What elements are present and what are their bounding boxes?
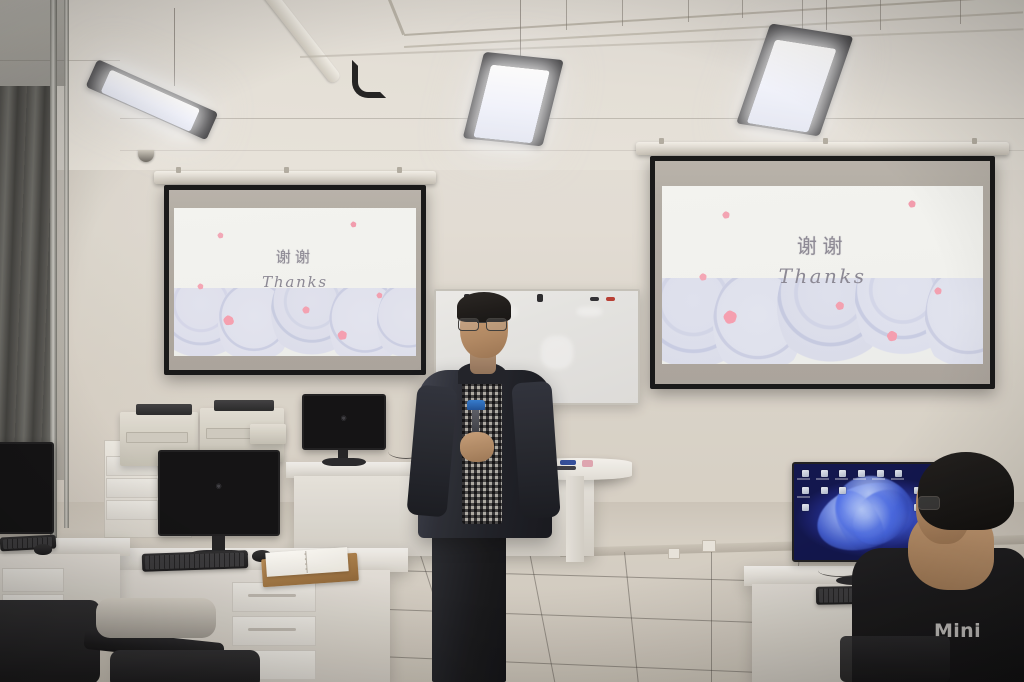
left-desk-drawer[interactable] — [2, 568, 64, 592]
presenter-legs — [432, 522, 506, 682]
drawer-handle[interactable] — [248, 628, 296, 631]
desktop-icon[interactable] — [821, 470, 828, 477]
desktop-icon[interactable] — [839, 470, 846, 477]
desktop-icon[interactable] — [802, 470, 809, 477]
pipe-hanger — [742, 0, 743, 18]
microphone-head — [467, 400, 485, 410]
monitor-brand-logo: ◉ — [341, 414, 348, 422]
desktop-icon[interactable] — [802, 487, 809, 494]
chair[interactable] — [96, 598, 216, 638]
wall-outlet[interactable] — [702, 540, 716, 552]
printer-side-unit — [250, 424, 286, 444]
blossom-icon — [215, 230, 224, 239]
presenter-arm-right — [511, 381, 560, 519]
lamp-wire — [174, 8, 175, 86]
desktop-icon-label — [797, 478, 810, 480]
blossom-icon — [220, 311, 236, 327]
monitor-base — [322, 458, 366, 466]
pipe-hanger — [960, 0, 961, 24]
blossom-icon — [300, 304, 311, 315]
slide-right: 谢谢 Thanks — [662, 186, 984, 364]
attendee-glasses — [918, 496, 940, 510]
monitor-brand-logo: ◉ — [216, 482, 223, 490]
slide-title: 谢谢 — [662, 230, 984, 259]
printer-lid — [136, 404, 192, 415]
glasses-lens-left — [458, 318, 479, 331]
monitor-screen — [0, 442, 54, 534]
blossom-icon — [832, 298, 846, 312]
drawer-handle[interactable] — [248, 594, 296, 597]
whiteboard-glare — [577, 307, 601, 316]
floor-tile-line — [711, 552, 712, 682]
cabinet-drawer[interactable] — [106, 478, 158, 498]
chair[interactable] — [110, 650, 260, 682]
desktop-icon[interactable] — [839, 487, 846, 494]
keyboard-keys — [145, 552, 245, 569]
pipe-elbow — [352, 60, 386, 98]
whiteboard-marker[interactable] — [606, 297, 615, 301]
monitor-screen: ◉ — [302, 394, 386, 450]
mouse-left[interactable] — [34, 544, 52, 555]
window-curtain[interactable] — [0, 86, 52, 480]
monitor-left[interactable] — [0, 442, 54, 534]
screen-roller-case — [636, 142, 1009, 155]
pipe-hanger — [566, 0, 567, 30]
desktop-icon-label — [835, 478, 848, 480]
blossom-icon — [884, 328, 899, 343]
classroom-scene: 谢谢 Thanks — [0, 0, 1024, 682]
printer-tray — [126, 432, 188, 443]
left-projection-screen[interactable]: 谢谢 Thanks — [164, 185, 426, 375]
whiteboard-marker[interactable] — [590, 297, 599, 301]
monitor-mid[interactable]: ◉ — [302, 394, 386, 450]
desktop-icon[interactable] — [802, 504, 809, 511]
blossom-icon — [348, 220, 357, 229]
slide-title: 谢谢 — [174, 246, 416, 267]
pipe-hanger — [880, 0, 881, 30]
right-projection-screen[interactable]: 谢谢 Thanks — [650, 156, 995, 389]
slide-left: 谢谢 Thanks — [174, 208, 416, 356]
presenter-hand — [460, 432, 494, 462]
blossom-icon — [720, 209, 731, 220]
monitor-front[interactable]: ◉ — [158, 450, 280, 536]
podium-eraser[interactable] — [582, 460, 593, 467]
ceiling-seam — [120, 118, 1024, 119]
slide-subtitle: Thanks — [662, 264, 984, 288]
keyboard-front[interactable] — [142, 550, 249, 572]
lamp-wire — [826, 0, 827, 30]
chair-seated[interactable] — [840, 636, 950, 682]
blossom-icon — [375, 291, 384, 300]
presenter[interactable] — [410, 290, 570, 682]
blossom-icon — [336, 329, 348, 341]
front-desk-drawer[interactable] — [232, 616, 316, 646]
blossom-icon — [906, 198, 917, 209]
window-mullion — [64, 0, 69, 528]
screen-roller-case — [154, 171, 437, 184]
lamp-wire — [520, 0, 521, 56]
attendee-hair — [918, 452, 1014, 530]
glasses-lens-right — [486, 318, 507, 331]
window-pane — [57, 86, 64, 480]
slide-subtitle: Thanks — [174, 273, 416, 291]
pipe-hanger — [622, 0, 623, 26]
wall-outlet[interactable] — [668, 548, 680, 559]
printer-lid — [214, 400, 274, 411]
monitor-screen: ◉ — [158, 450, 280, 536]
desktop-icon-label — [816, 478, 829, 480]
glasses-bridge — [477, 322, 486, 323]
presenter-glasses — [458, 318, 510, 330]
cabinet-drawer[interactable] — [106, 500, 158, 520]
screen-fabric: 谢谢 Thanks — [655, 161, 990, 384]
pipe-hanger — [688, 0, 689, 22]
desktop-icon-label — [797, 496, 810, 498]
blossom-icon — [720, 307, 739, 326]
screen-fabric: 谢谢 Thanks — [169, 190, 421, 370]
desktop-icon[interactable] — [821, 487, 828, 494]
